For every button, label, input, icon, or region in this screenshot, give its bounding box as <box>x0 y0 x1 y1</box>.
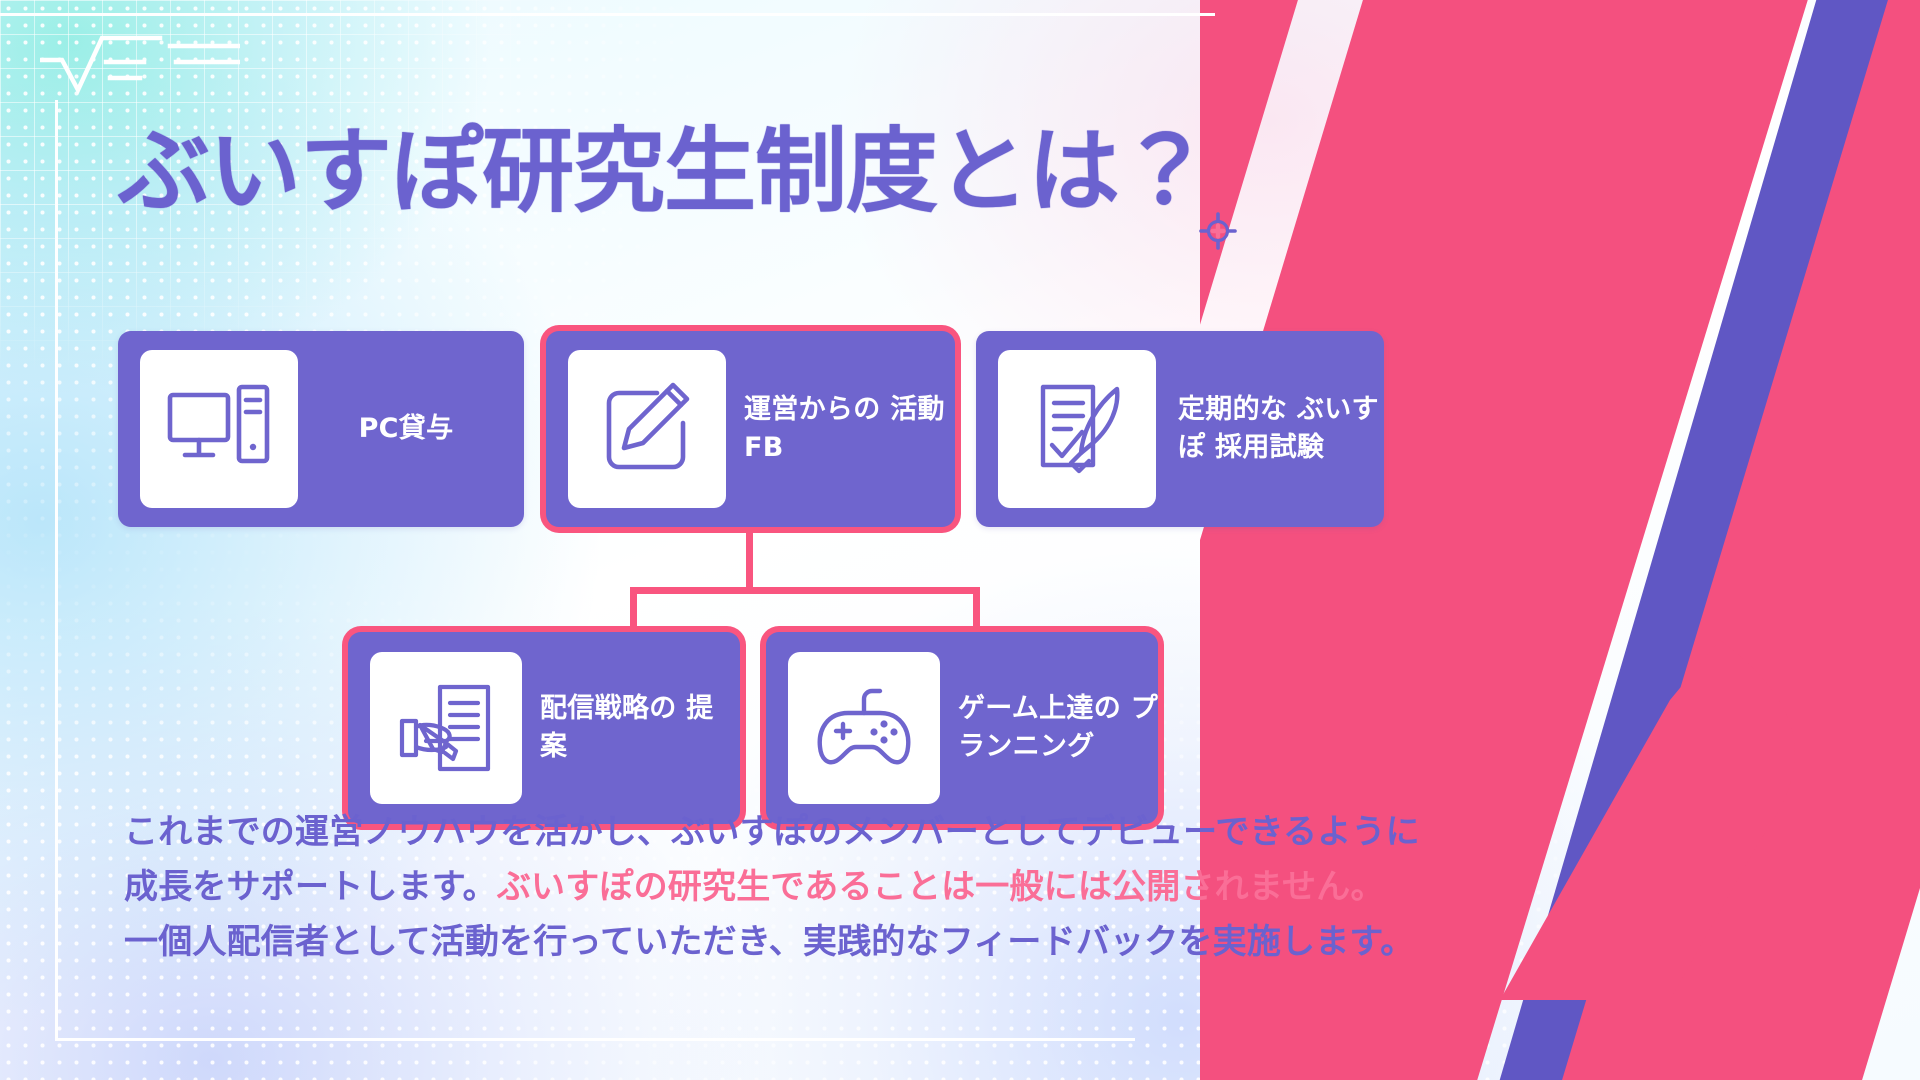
document-feather-pen-icon <box>998 350 1156 508</box>
card-game-improvement-planning[interactable]: ゲーム上達の プランニング <box>766 632 1158 824</box>
hand-writing-document-icon <box>370 652 522 804</box>
connector-horizontal <box>630 587 980 594</box>
crosshair-target-icon <box>1197 210 1239 252</box>
card-streaming-strategy[interactable]: 配信戦略の 提案 <box>348 632 740 824</box>
card-activity-feedback-label: 運営からの 活動FB <box>744 391 955 468</box>
card-recruitment-exam[interactable]: 定期的な ぶいすぽ 採用試験 <box>976 331 1384 527</box>
card-line: ゲーム上達の <box>958 693 1121 724</box>
description-line-2-highlight: ぶいすぽの研究生であることは一般には公開されません。 <box>497 867 1385 907</box>
description-paragraph: これまでの運営ノウハウを活かし、ぶいすぽのメンバーとしてデビューできるように 成… <box>124 805 1604 970</box>
card-recruitment-exam-label: 定期的な ぶいすぽ 採用試験 <box>1178 391 1384 468</box>
card-streaming-strategy-label: 配信戦略の 提案 <box>540 690 740 767</box>
page-title-text: ぶいすぽ研究生制度とは？ <box>118 118 1210 225</box>
card-pc-loan-label: PC貸与 <box>306 410 506 448</box>
card-line: 配信戦略の <box>540 693 677 724</box>
connector-vertical-top <box>746 527 753 594</box>
card-line: 定期的な <box>1178 394 1287 425</box>
gamepad-icon <box>788 652 940 804</box>
description-line-1: これまでの運営ノウハウを活かし、ぶいすぽのメンバーとしてデビューできるように <box>124 805 1604 860</box>
frame-rule-top <box>0 13 1215 16</box>
description-line-2-normal: 成長をサポートします。 <box>124 867 497 907</box>
frame-rule-bottom <box>55 1038 1135 1041</box>
benefits-diagram: PC貸与 運営からの 活動FB <box>0 322 1400 782</box>
pencil-edit-icon <box>568 350 726 508</box>
connector-vertical-right <box>973 587 980 637</box>
description-line-2: 成長をサポートします。ぶいすぽの研究生であることは一般には公開されません。 <box>124 860 1604 915</box>
card-line: 運営からの <box>744 394 881 425</box>
connector-vertical-left <box>630 587 637 637</box>
page-title: ぶいすぽ研究生制度とは？ <box>118 126 1210 218</box>
card-line: PC貸与 <box>359 413 454 444</box>
card-pc-loan[interactable]: PC貸与 <box>118 331 524 527</box>
slide-root: ぶいすぽ研究生制度とは？ <box>0 0 1920 1080</box>
desktop-computer-icon <box>140 350 298 508</box>
root-equals-mark <box>40 28 240 106</box>
card-activity-feedback[interactable]: 運営からの 活動FB <box>546 331 955 527</box>
description-line-3: 一個人配信者として活動を行っていただき、実践的なフィードバックを実施します。 <box>124 915 1604 970</box>
card-line: 採用試験 <box>1215 432 1324 463</box>
card-game-improvement-planning-label: ゲーム上達の プランニング <box>958 690 1158 767</box>
